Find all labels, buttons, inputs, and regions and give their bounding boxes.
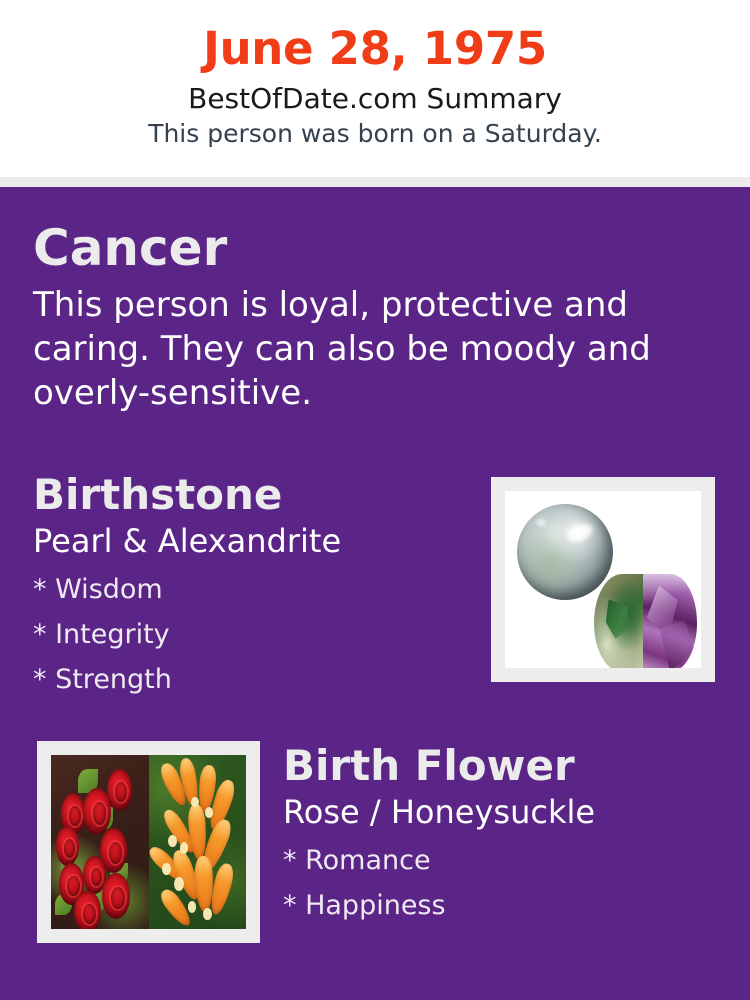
summary-card: June 28, 1975 BestOfDate.com Summary Thi… [0, 0, 750, 1000]
site-subtitle: BestOfDate.com Summary [0, 76, 750, 116]
zodiac-sign-title: Cancer [33, 219, 653, 277]
birth-flower-photo [37, 741, 260, 943]
orange-honeysuckle-icon [149, 755, 247, 929]
birthstone-section: Birthstone Pearl & Alexandrite * Wisdom … [33, 470, 473, 702]
page-title: June 28, 1975 [0, 0, 750, 76]
birth-flower-value: Rose / Honeysuckle [283, 791, 723, 832]
list-item: * Romance [283, 838, 723, 883]
red-roses-icon [51, 755, 149, 929]
birth-flower-title: Birth Flower [283, 741, 723, 791]
birth-flower-photo-inner [51, 755, 246, 929]
birth-flower-traits: * Romance * Happiness [283, 832, 723, 928]
zodiac-section: Cancer This person is loyal, protective … [33, 219, 653, 415]
birthstone-photo-inner [505, 491, 701, 668]
alexandrite-gem-icon [594, 574, 697, 668]
zodiac-description: This person is loyal, protective and car… [33, 277, 653, 415]
birthstone-traits: * Wisdom * Integrity * Strength [33, 561, 473, 702]
list-item: * Strength [33, 657, 473, 702]
header-divider [0, 177, 750, 187]
birth-day-of-week: This person was born on a Saturday. [0, 116, 750, 149]
list-item: * Wisdom [33, 567, 473, 612]
birthstone-value: Pearl & Alexandrite [33, 520, 473, 561]
card-header: June 28, 1975 BestOfDate.com Summary Thi… [0, 0, 750, 177]
birthstone-photo [491, 477, 715, 682]
list-item: * Happiness [283, 883, 723, 928]
birthstone-title: Birthstone [33, 470, 473, 520]
alexandrite-faceted-half [643, 574, 697, 668]
details-panel: Cancer This person is loyal, protective … [0, 187, 750, 1000]
birth-flower-section: Birth Flower Rose / Honeysuckle * Romanc… [283, 741, 723, 928]
list-item: * Integrity [33, 612, 473, 657]
alexandrite-rough-half [594, 574, 648, 668]
